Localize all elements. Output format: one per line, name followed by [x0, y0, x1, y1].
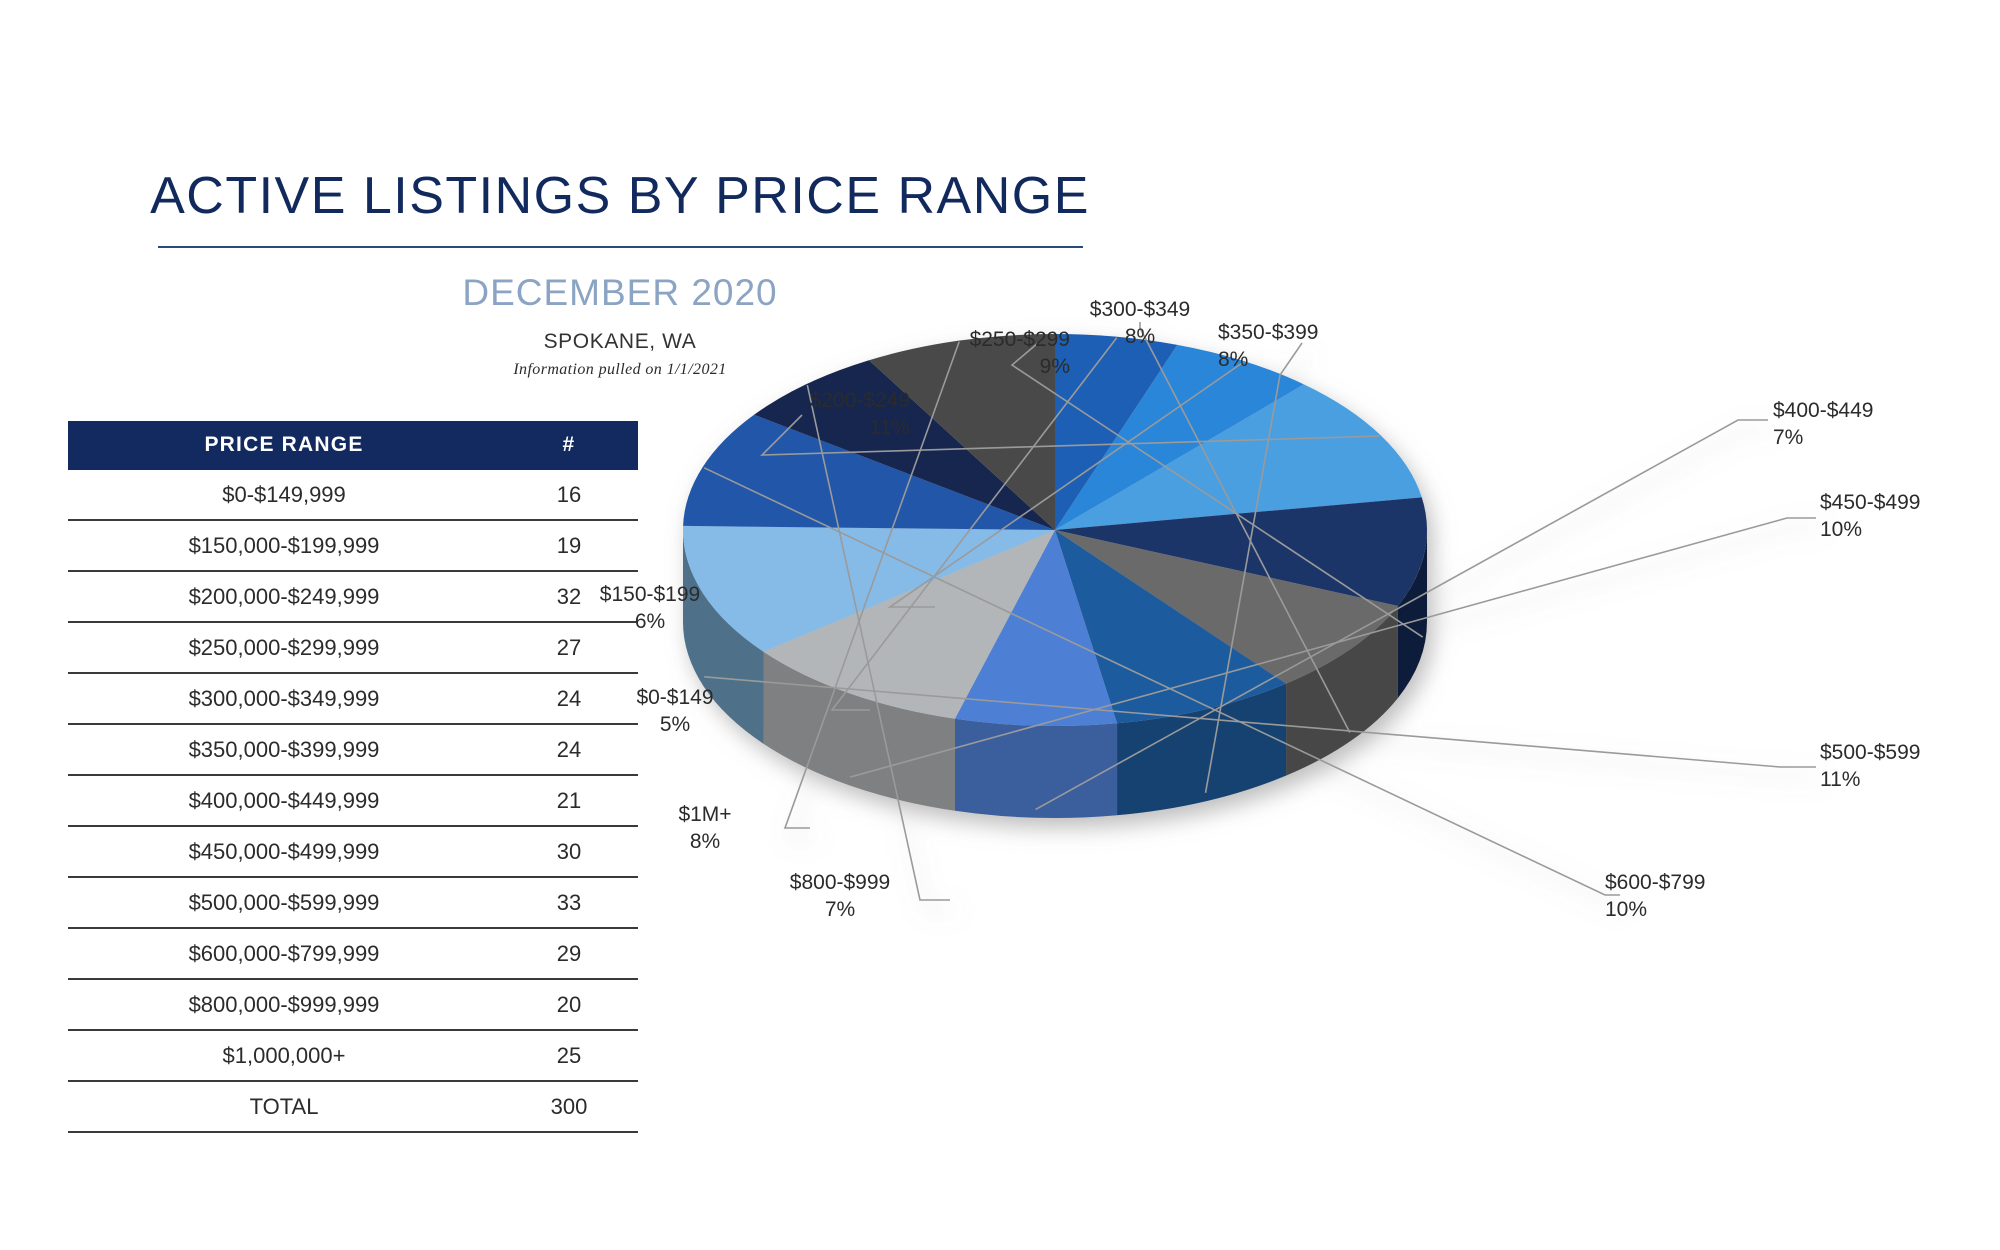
- pie-label-350-399: $350-$399 8%: [1218, 320, 1458, 374]
- title-divider: [158, 246, 1083, 248]
- table-row: $400,000-$449,99921: [68, 775, 638, 826]
- pie-label-percent: 7%: [730, 897, 950, 924]
- table-total-row: TOTAL300: [68, 1081, 638, 1132]
- column-header-count: #: [500, 421, 638, 470]
- price-range-table: PRICE RANGE # $0-$149,99916$150,000-$199…: [68, 421, 638, 1133]
- table-row: $0-$149,99916: [68, 470, 638, 520]
- pie-label-text: $300-$349: [1090, 298, 1190, 321]
- cell-price-range: $500,000-$599,999: [68, 877, 500, 928]
- cell-price-range: $350,000-$399,999: [68, 724, 500, 775]
- table-row: $1,000,000+25: [68, 1030, 638, 1081]
- pie-label-800-999: $800-$999 7%: [730, 870, 950, 924]
- cell-price-range: $200,000-$249,999: [68, 571, 500, 622]
- cell-price-range: $400,000-$449,999: [68, 775, 500, 826]
- pie-label-text: $400-$449: [1773, 399, 1873, 422]
- price-range-table-container: PRICE RANGE # $0-$149,99916$150,000-$199…: [68, 421, 638, 1133]
- pie-label-percent: 9%: [820, 354, 1070, 381]
- pie-label-percent: 6%: [535, 609, 765, 636]
- table-body: $0-$149,99916$150,000-$199,99919$200,000…: [68, 470, 638, 1132]
- pie-label-percent: 10%: [1820, 517, 2000, 544]
- pie-label-400-449: $400-$449 7%: [1773, 398, 2000, 452]
- pie-slice-wall: [955, 719, 1117, 818]
- cell-count: 33: [500, 877, 638, 928]
- pie-label-percent: 7%: [1773, 425, 2000, 452]
- pie-label-500-599: $500-$599 11%: [1820, 740, 2000, 794]
- pie-label-text: $800-$999: [790, 871, 890, 894]
- cell-count: 20: [500, 979, 638, 1030]
- table-row: $450,000-$499,99930: [68, 826, 638, 877]
- cell-price-range: $600,000-$799,999: [68, 928, 500, 979]
- pie-label-text: $1M+: [678, 803, 731, 826]
- table-row: $600,000-$799,99929: [68, 928, 638, 979]
- pie-label-600-799: $600-$799 10%: [1605, 870, 1845, 924]
- pie-label-text: $350-$399: [1218, 321, 1318, 344]
- table-row: $500,000-$599,99933: [68, 877, 638, 928]
- pie-label-percent: 11%: [1820, 767, 2000, 794]
- cell-count: 29: [500, 928, 638, 979]
- cell-count: 19: [500, 520, 638, 571]
- pie-label-percent: 8%: [1218, 347, 1458, 374]
- pie-label-percent: 10%: [1605, 897, 1845, 924]
- table-header: PRICE RANGE #: [68, 421, 638, 470]
- cell-price-range: $150,000-$199,999: [68, 520, 500, 571]
- pie-label-450-499: $450-$499 10%: [1820, 490, 2000, 544]
- cell-price-range: $800,000-$999,999: [68, 979, 500, 1030]
- cell-count: 16: [500, 470, 638, 520]
- pie-label-1m-plus: $1M+ 8%: [615, 802, 795, 856]
- table-row: $300,000-$349,99924: [68, 673, 638, 724]
- table-row: $350,000-$399,99924: [68, 724, 638, 775]
- cell-total-label: TOTAL: [68, 1081, 500, 1132]
- pie-label-percent: 5%: [560, 712, 790, 739]
- page-title: ACTIVE LISTINGS BY PRICE RANGE: [150, 170, 1090, 238]
- table-row: $150,000-$199,99919: [68, 520, 638, 571]
- pie-label-percent: 8%: [615, 829, 795, 856]
- table-header-row: PRICE RANGE #: [68, 421, 638, 470]
- pie-label-text: $450-$499: [1820, 491, 1920, 514]
- column-header-price-range: PRICE RANGE: [68, 421, 500, 470]
- pie-label-0-149: $0-$149 5%: [560, 685, 790, 739]
- pie-label-text: $500-$599: [1820, 741, 1920, 764]
- pie-label-percent: 11%: [660, 415, 910, 442]
- cell-price-range: $250,000-$299,999: [68, 622, 500, 673]
- pie-label-text: $0-$149: [636, 686, 713, 709]
- pie-label-150-199: $150-$199 6%: [535, 582, 765, 636]
- pie-label-200-249: $200-$249 11%: [660, 388, 910, 442]
- pie-label-text: $600-$799: [1605, 871, 1705, 894]
- pie-label-text: $150-$199: [600, 583, 700, 606]
- cell-price-range: $450,000-$499,999: [68, 826, 500, 877]
- table-row: $800,000-$999,99920: [68, 979, 638, 1030]
- cell-price-range: $1,000,000+: [68, 1030, 500, 1081]
- cell-total-count: 300: [500, 1081, 638, 1132]
- pie-chart-container: $200-$249 11% $250-$299 9% $300-$349 8% …: [620, 280, 2000, 1240]
- cell-price-range: $0-$149,999: [68, 470, 500, 520]
- pie-label-text: $200-$249: [810, 389, 910, 412]
- cell-count: 25: [500, 1030, 638, 1081]
- cell-price-range: $300,000-$349,999: [68, 673, 500, 724]
